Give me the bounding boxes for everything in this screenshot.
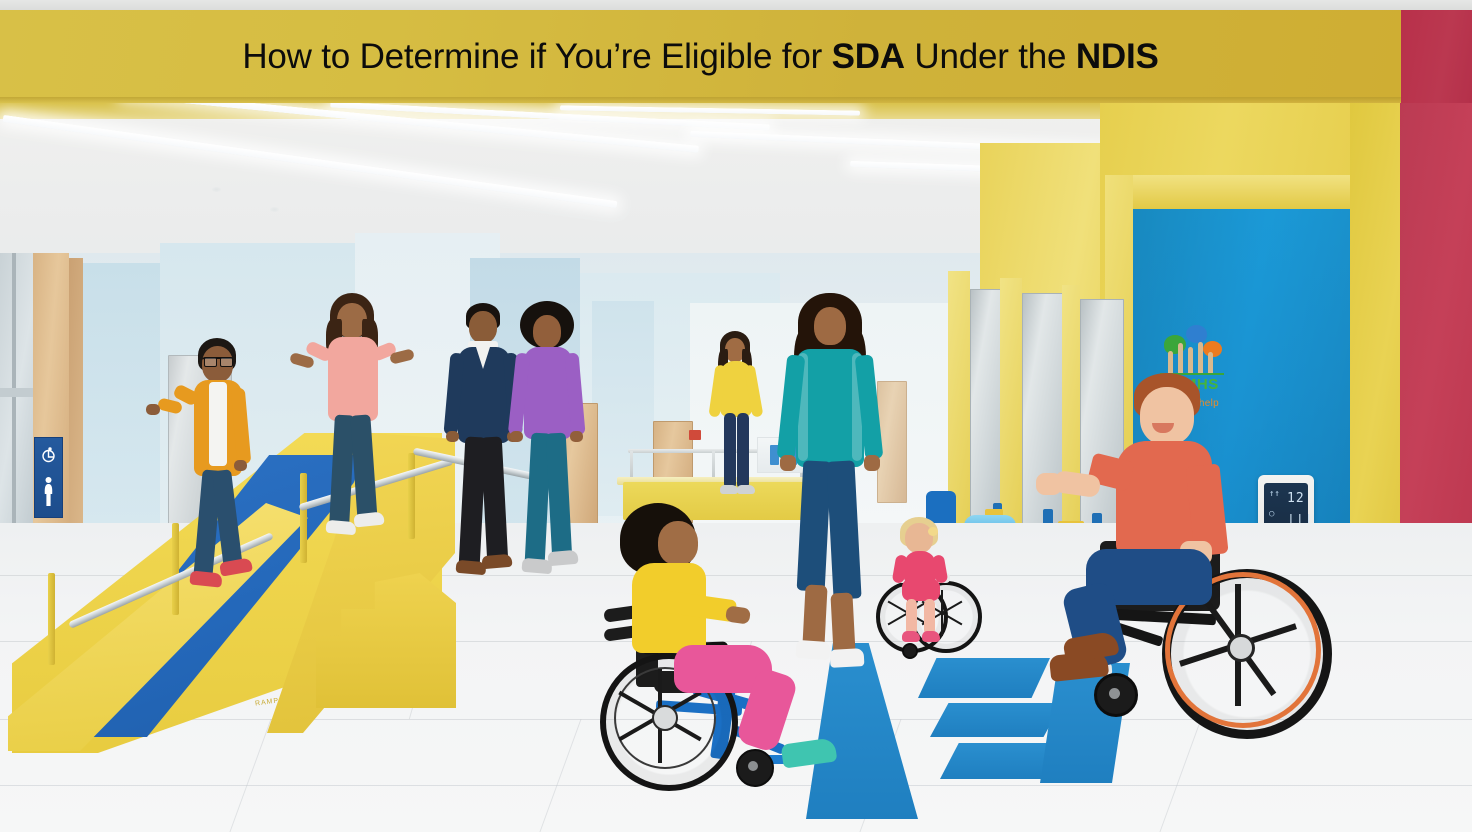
title-text-part2: Under the bbox=[905, 37, 1076, 76]
screenshot-root: How to Determine if You’re Eligible for … bbox=[0, 0, 1472, 832]
wheelchair-caster bbox=[1094, 673, 1138, 717]
leg bbox=[906, 599, 917, 635]
leg bbox=[724, 413, 736, 489]
head bbox=[533, 315, 561, 348]
top-edge-strip bbox=[0, 0, 1472, 10]
leg bbox=[737, 413, 749, 489]
illustration-scene: NDMHS Here to help ↑↑ ○ ◎ ♀ 12 bbox=[0, 103, 1472, 832]
ceiling-sprinkler bbox=[212, 187, 221, 192]
shoe bbox=[547, 550, 578, 567]
character-ramp-woman-glasses bbox=[176, 338, 266, 728]
hand bbox=[570, 431, 583, 442]
head bbox=[658, 521, 698, 565]
shoe bbox=[189, 570, 222, 587]
leg bbox=[924, 599, 935, 635]
exit-sign bbox=[689, 430, 701, 440]
title-text-sda: SDA bbox=[832, 37, 905, 76]
wheelchair-icon bbox=[41, 446, 56, 464]
title-text-ndis: NDIS bbox=[1076, 37, 1159, 76]
hand-icon bbox=[1208, 352, 1213, 373]
shoe bbox=[481, 554, 512, 570]
person-icon bbox=[43, 476, 54, 508]
leg bbox=[481, 437, 509, 564]
shorts bbox=[902, 579, 940, 601]
door-crossbar bbox=[0, 388, 34, 397]
handrail-post bbox=[48, 573, 55, 665]
handrail-post bbox=[300, 473, 307, 563]
hand bbox=[146, 404, 160, 415]
hand-icon bbox=[1168, 351, 1173, 373]
hand-icon bbox=[1188, 347, 1193, 373]
glasses-lens bbox=[220, 357, 233, 367]
title-banner: How to Determine if You’re Eligible for … bbox=[0, 10, 1401, 103]
character-woman-purple-top bbox=[512, 301, 592, 621]
character-man-wheelchair-coral bbox=[1030, 373, 1310, 723]
leg bbox=[350, 414, 377, 523]
hand bbox=[1036, 473, 1062, 495]
hair-bow bbox=[928, 527, 938, 536]
character-woman-yellow-distant bbox=[712, 331, 760, 521]
shoe bbox=[922, 631, 940, 642]
handrail-post bbox=[408, 453, 415, 539]
shoe bbox=[353, 511, 384, 527]
character-ramp-woman-pink bbox=[310, 293, 400, 623]
hand bbox=[510, 431, 523, 442]
wheelchair-caster bbox=[902, 643, 918, 659]
shirt bbox=[209, 382, 227, 466]
torso-tshirt bbox=[328, 337, 378, 421]
hand bbox=[864, 455, 880, 471]
shoe-sneaker bbox=[781, 737, 838, 768]
ceiling-sprinkler bbox=[270, 207, 279, 212]
shoe bbox=[902, 631, 920, 642]
alcove-frame-top bbox=[1105, 175, 1367, 209]
head bbox=[1140, 387, 1194, 445]
shoe bbox=[325, 520, 356, 536]
hand bbox=[234, 460, 247, 471]
hand-icon bbox=[1178, 343, 1183, 373]
character-girl-wheelchair-pink bbox=[876, 517, 968, 665]
page-title: How to Determine if You’re Eligible for … bbox=[0, 36, 1401, 78]
character-woman-wheelchair-yellow bbox=[596, 503, 856, 803]
head bbox=[814, 307, 846, 345]
title-text-part1: How to Determine if You’re Eligible for bbox=[242, 37, 831, 76]
leg-legging bbox=[546, 433, 573, 562]
glasses-lens bbox=[204, 357, 217, 367]
head bbox=[469, 311, 497, 343]
hand bbox=[446, 431, 459, 442]
shoe bbox=[737, 485, 755, 494]
shoe bbox=[720, 485, 738, 494]
hand-icon bbox=[1198, 342, 1203, 373]
hand bbox=[780, 455, 796, 471]
banner-accent-panel bbox=[1401, 10, 1472, 103]
speech-bubble-icon bbox=[1186, 325, 1207, 343]
accessible-restroom-sign bbox=[34, 437, 63, 518]
hand bbox=[725, 605, 751, 624]
wheelchair-caster bbox=[736, 749, 774, 787]
